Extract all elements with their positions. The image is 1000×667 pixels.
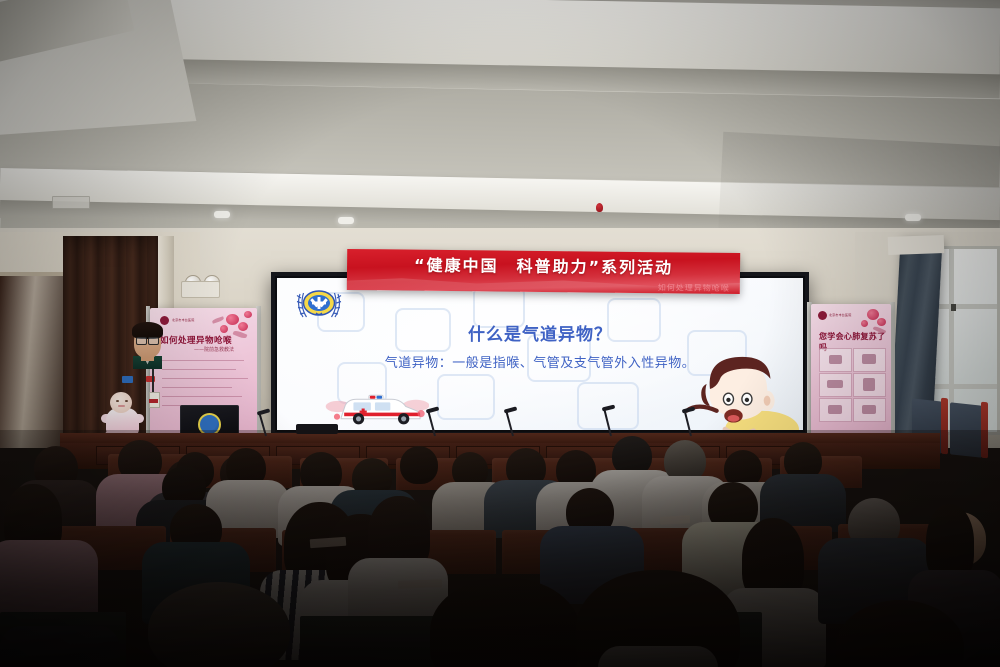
poster-right: 北京市丰台医院 您学会心肺复苏了吗 [811, 304, 891, 444]
presenter-id-badge-stripe [149, 399, 158, 403]
poster-flower [861, 320, 868, 327]
poster-flower [877, 318, 886, 326]
poster-logo-left [160, 316, 169, 325]
ambulance-graphic [325, 388, 429, 428]
poster-leaf [212, 316, 225, 324]
poster-org-right: 北京市丰台医院 [829, 313, 851, 317]
poster-leaf [233, 330, 248, 340]
choking-child-cartoon [673, 352, 799, 430]
coffered-ceiling [0, 0, 1000, 243]
projection-screen: 什么是气道异物？ 气道异物：一般是指喉、气管及支气管外入性异物。 [277, 278, 803, 430]
presenter-glasses-left [136, 337, 147, 345]
slide-watermark [437, 374, 495, 420]
cpr-panel [819, 348, 852, 372]
audience-shadow-overlay [0, 430, 1000, 667]
cpr-panel [819, 373, 852, 397]
ceiling-downlight [338, 217, 354, 224]
banner-subtitle: 如何处理异物呛喉 [658, 282, 730, 294]
poster-flower [226, 314, 239, 325]
presenter-glasses-right [148, 337, 159, 345]
lecture-hall-photo: 什么是气道异物？ 气道异物：一般是指喉、气管及支气管外入性异物。 [0, 0, 1000, 667]
ceiling-downlight [214, 211, 230, 218]
poster-flower [238, 322, 248, 331]
cpr-panel [853, 348, 886, 372]
seated-audience [0, 430, 1000, 667]
cpr-panel [853, 398, 886, 422]
poster-title-left: 如何处理异物呛喉 [160, 334, 232, 346]
manikin-head [110, 392, 132, 413]
presenter-lanyard [152, 369, 154, 393]
event-banner: “健康中国 科普助力”系列活动 如何处理异物呛喉 [347, 249, 740, 294]
poster-flower [220, 325, 228, 333]
fire-sprinkler [596, 203, 603, 212]
cpr-panel [819, 398, 852, 422]
poster-subtitle-left: ——院前急救教法 [194, 346, 234, 353]
poster-logo-right [818, 311, 827, 320]
banner-title: “健康中国 科普助力”系列活动 [347, 251, 740, 279]
ceiling-shadow [717, 132, 1000, 243]
poster-org-left: 北京市丰台医院 [172, 318, 194, 322]
manikin-eye [116, 400, 119, 402]
cpr-panel [853, 373, 886, 397]
presenter-shoulder-patch [122, 376, 133, 383]
slide-title: 什么是气道异物？ [277, 320, 803, 345]
ceiling-downlight [905, 214, 921, 221]
manikin-mouth [118, 405, 125, 407]
emergency-light [181, 281, 220, 298]
poster-flower [244, 311, 252, 318]
ceiling-vent [52, 196, 90, 209]
curtain-valance [888, 235, 945, 255]
manikin-eye [125, 400, 128, 402]
